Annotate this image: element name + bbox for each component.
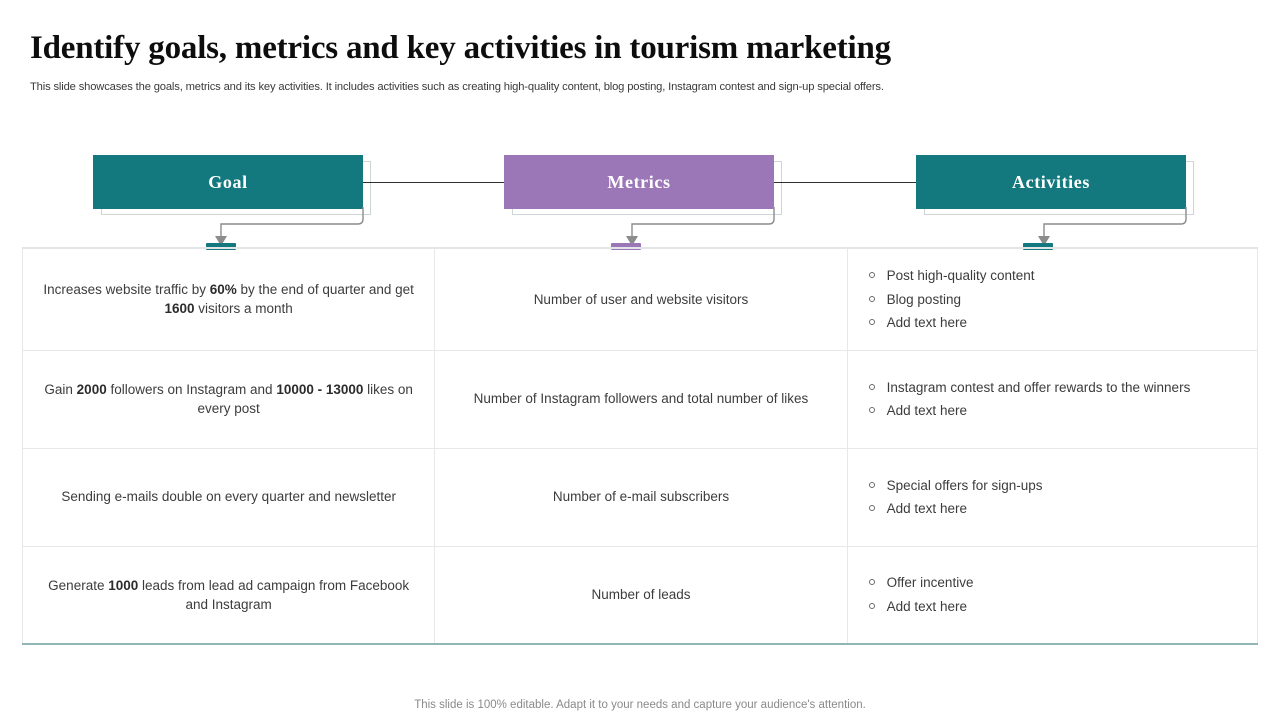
connector-line-metrics-activities bbox=[774, 182, 916, 183]
header-box-goal[interactable]: Goal bbox=[93, 155, 363, 209]
cell-metric: Number of e-mail subscribers bbox=[435, 448, 847, 546]
circle-bullet-icon bbox=[869, 505, 875, 511]
header-label-activities: Activities bbox=[1012, 172, 1090, 193]
cell-activities: Offer incentiveAdd text here bbox=[847, 546, 1257, 644]
cell-goal: Gain 2000 followers on Instagram and 100… bbox=[23, 350, 435, 448]
activities-list: Post high-quality contentBlog postingAdd… bbox=[862, 266, 1243, 332]
footer-note: This slide is 100% editable. Adapt it to… bbox=[0, 699, 1280, 711]
cell-goal: Sending e-mails double on every quarter … bbox=[23, 448, 435, 546]
cell-activities: Instagram contest and offer rewards to t… bbox=[847, 350, 1257, 448]
cell-metric: Number of leads bbox=[435, 546, 847, 644]
cell-activities: Post high-quality contentBlog postingAdd… bbox=[847, 248, 1257, 350]
cell-goal: Generate 1000 leads from lead ad campaig… bbox=[23, 546, 435, 644]
activity-item: Add text here bbox=[862, 499, 1243, 518]
activity-item: Instagram contest and offer rewards to t… bbox=[862, 378, 1243, 397]
activity-item: Add text here bbox=[862, 597, 1243, 616]
circle-bullet-icon bbox=[869, 296, 875, 302]
header-box-fill: Activities bbox=[916, 155, 1186, 209]
table-row: Gain 2000 followers on Instagram and 100… bbox=[23, 350, 1258, 448]
cell-activities: Special offers for sign-upsAdd text here bbox=[847, 448, 1257, 546]
circle-bullet-icon bbox=[869, 319, 875, 325]
activity-item: Add text here bbox=[862, 401, 1243, 420]
circle-bullet-icon bbox=[869, 384, 875, 390]
table-row: Increases website traffic by 60% by the … bbox=[23, 248, 1258, 350]
circle-bullet-icon bbox=[869, 272, 875, 278]
circle-bullet-icon bbox=[869, 603, 875, 609]
table-row: Sending e-mails double on every quarter … bbox=[23, 448, 1258, 546]
activity-item: Offer incentive bbox=[862, 573, 1243, 592]
activity-item: Post high-quality content bbox=[862, 266, 1243, 285]
activities-list: Instagram contest and offer rewards to t… bbox=[862, 378, 1243, 421]
page-subtitle: This slide showcases the goals, metrics … bbox=[30, 81, 884, 93]
goals-metrics-activities-table: Increases website traffic by 60% by the … bbox=[22, 247, 1258, 645]
activities-list: Special offers for sign-upsAdd text here bbox=[862, 476, 1243, 519]
header-label-metrics: Metrics bbox=[607, 172, 670, 193]
header-label-goal: Goal bbox=[208, 172, 247, 193]
header-box-metrics[interactable]: Metrics bbox=[504, 155, 774, 209]
header-box-activities[interactable]: Activities bbox=[916, 155, 1186, 209]
page-title: Identify goals, metrics and key activiti… bbox=[30, 30, 891, 67]
activity-item: Special offers for sign-ups bbox=[862, 476, 1243, 495]
activities-list: Offer incentiveAdd text here bbox=[862, 573, 1243, 616]
activity-item: Blog posting bbox=[862, 290, 1243, 309]
cell-goal: Increases website traffic by 60% by the … bbox=[23, 248, 435, 350]
circle-bullet-icon bbox=[869, 482, 875, 488]
activity-item: Add text here bbox=[862, 313, 1243, 332]
table-row: Generate 1000 leads from lead ad campaig… bbox=[23, 546, 1258, 644]
circle-bullet-icon bbox=[869, 407, 875, 413]
circle-bullet-icon bbox=[869, 579, 875, 585]
header-box-fill: Goal bbox=[93, 155, 363, 209]
header-box-fill: Metrics bbox=[504, 155, 774, 209]
connector-line-goal-metrics bbox=[363, 182, 504, 183]
cell-metric: Number of Instagram followers and total … bbox=[435, 350, 847, 448]
cell-metric: Number of user and website visitors bbox=[435, 248, 847, 350]
